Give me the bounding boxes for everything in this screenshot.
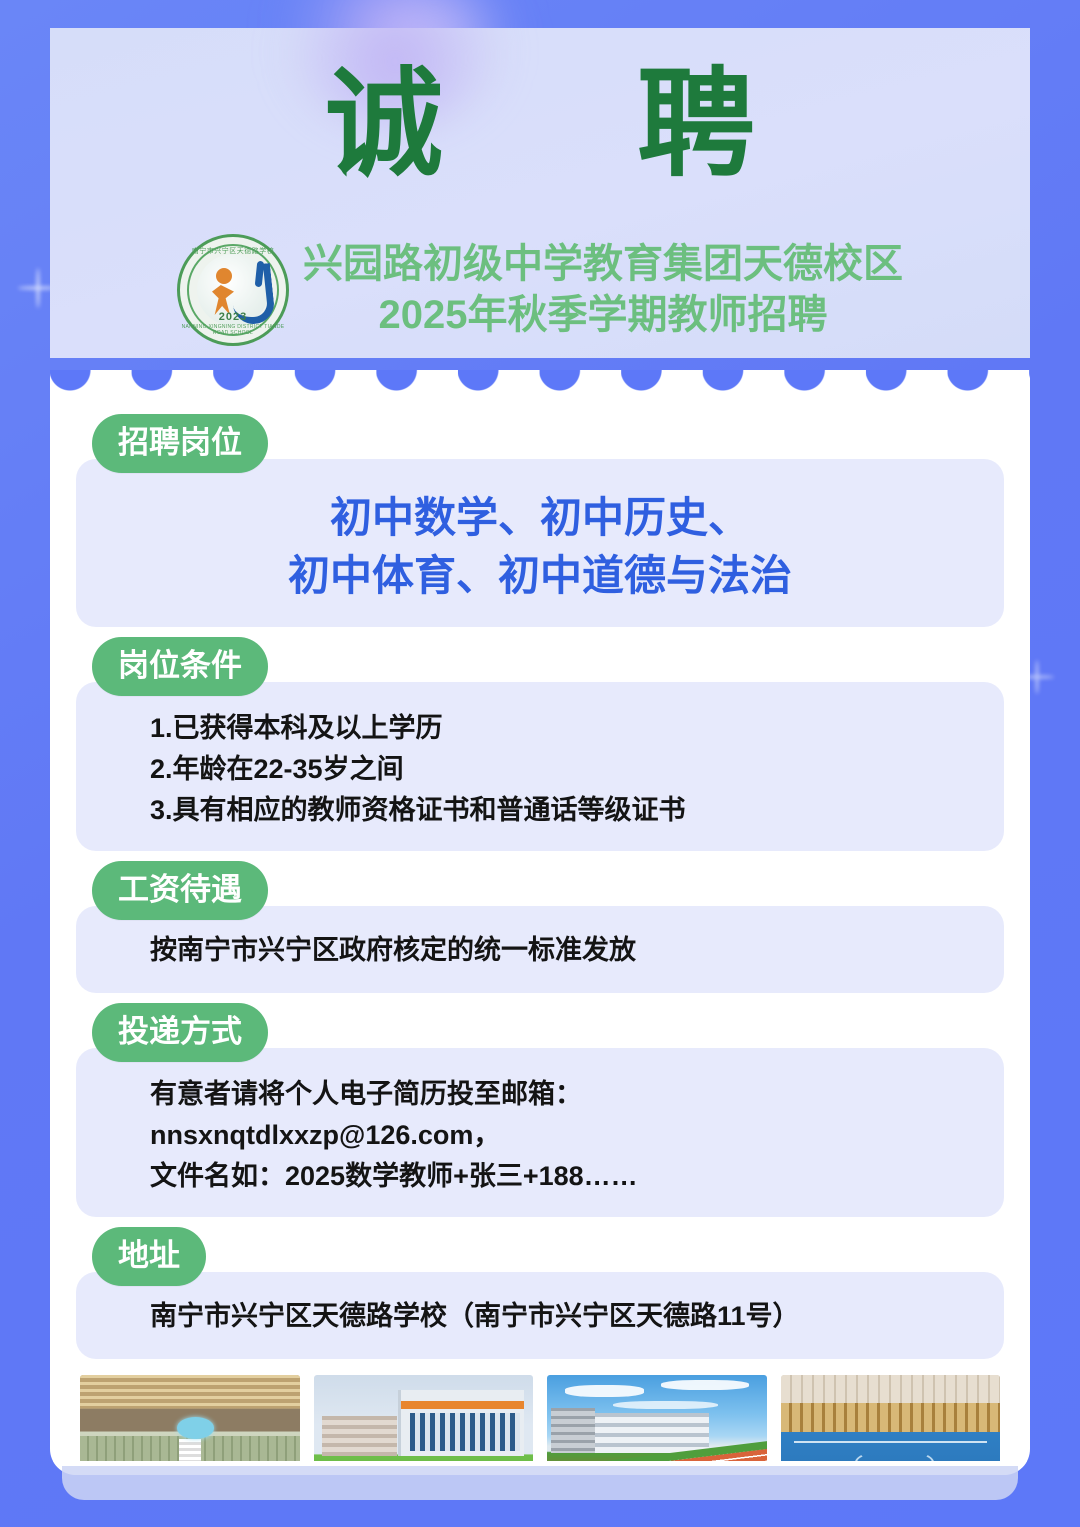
section-badge-requirements: 岗位条件	[92, 637, 268, 696]
section-badge-address: 地址	[92, 1227, 206, 1286]
requirement-item: 3.具有相应的教师资格证书和普通话等级证书	[102, 790, 978, 831]
salary-text: 按南宁市兴宁区政府核定的统一标准发放	[102, 930, 978, 971]
section-requirements: 岗位条件 1.已获得本科及以上学历 2.年龄在22-35岁之间 3.具有相应的教…	[76, 637, 1004, 851]
page-title: 诚 聘	[50, 66, 1030, 184]
section-badge-salary: 工资待遇	[92, 861, 268, 920]
section-badge-application: 投递方式	[92, 1003, 268, 1062]
auditorium-screen-logo	[177, 1417, 214, 1439]
poster-header: 诚 聘 南宁市兴宁区天德路学校 2023 NANNING XINGNING DI…	[50, 28, 1030, 358]
sky-cloud	[661, 1380, 749, 1390]
logo-arc-bottom-text: NANNING XINGNING DISTRICT TIANDE ROAD SC…	[180, 324, 286, 336]
campus-window-band	[410, 1413, 520, 1451]
requirements-panel: 1.已获得本科及以上学历 2.年龄在22-35岁之间 3.具有相应的教师资格证书…	[76, 682, 1004, 851]
court-baseline	[794, 1441, 987, 1443]
subtitle-line-2: 2025年秋季学期教师招聘	[303, 292, 903, 339]
application-panel: 有意者请将个人电子简历投至邮箱： nnsxnqtdlxxzp@126.com， …	[76, 1048, 1004, 1217]
section-address: 地址 南宁市兴宁区天德路学校（南宁市兴宁区天德路11号）	[76, 1227, 1004, 1359]
requirement-item: 1.已获得本科及以上学历	[102, 708, 978, 749]
card-shadow-band	[62, 1466, 1018, 1500]
poster-subtitle: 兴园路初级中学教育集团天德校区 2025年秋季学期教师招聘	[303, 241, 903, 339]
subtitle-line-1: 兴园路初级中学教育集团天德校区	[303, 241, 903, 288]
section-application: 投递方式 有意者请将个人电子简历投至邮箱： nnsxnqtdlxxzp@126.…	[76, 1003, 1004, 1217]
application-filename-format: 文件名如：2025数学教师+张三+188……	[102, 1156, 978, 1197]
section-positions: 招聘岗位 初中数学、初中历史、 初中体育、初中道德与法治	[76, 414, 1004, 627]
section-salary: 工资待遇 按南宁市兴宁区政府核定的统一标准发放	[76, 861, 1004, 993]
campus-secondary-building	[322, 1416, 397, 1457]
campus-orange-stripe	[401, 1401, 524, 1410]
auditorium-ceiling	[80, 1375, 300, 1408]
track-side-building	[551, 1408, 595, 1452]
track-main-building	[595, 1413, 709, 1452]
content-card: 招聘岗位 初中数学、初中历史、 初中体育、初中道德与法治 岗位条件 1.已获得本…	[50, 370, 1030, 1475]
requirement-item: 2.年龄在22-35岁之间	[102, 749, 978, 790]
gym-wood-wall	[781, 1403, 1001, 1432]
application-instruction: 有意者请将个人电子简历投至邮箱：	[102, 1074, 978, 1115]
sky-cloud	[565, 1385, 644, 1396]
position-line-2: 初中体育、初中道德与法治	[102, 547, 978, 605]
logo-arc-top-text: 南宁市兴宁区天德路学校	[180, 246, 286, 256]
logo-figure-head	[216, 268, 232, 284]
scalloped-edge	[50, 370, 1030, 400]
school-logo-icon: 南宁市兴宁区天德路学校 2023 NANNING XINGNING DISTRI…	[177, 234, 289, 346]
gym-ceiling	[781, 1375, 1001, 1403]
card-content: 招聘岗位 初中数学、初中历史、 初中体育、初中道德与法治 岗位条件 1.已获得本…	[50, 400, 1030, 1475]
position-line-1: 初中数学、初中历史、	[102, 489, 978, 547]
address-panel: 南宁市兴宁区天德路学校（南宁市兴宁区天德路11号）	[76, 1272, 1004, 1359]
sky-cloud	[613, 1401, 718, 1410]
positions-list: 初中数学、初中历史、 初中体育、初中道德与法治	[102, 489, 978, 605]
logo-year: 2023	[180, 311, 286, 323]
positions-panel: 初中数学、初中历史、 初中体育、初中道德与法治	[76, 459, 1004, 627]
address-text: 南宁市兴宁区天德路学校（南宁市兴宁区天德路11号）	[102, 1296, 978, 1337]
section-badge-positions: 招聘岗位	[92, 414, 268, 473]
application-email[interactable]: nnsxnqtdlxxzp@126.com，	[102, 1115, 978, 1156]
header-identity-row: 南宁市兴宁区天德路学校 2023 NANNING XINGNING DISTRI…	[50, 234, 1030, 346]
